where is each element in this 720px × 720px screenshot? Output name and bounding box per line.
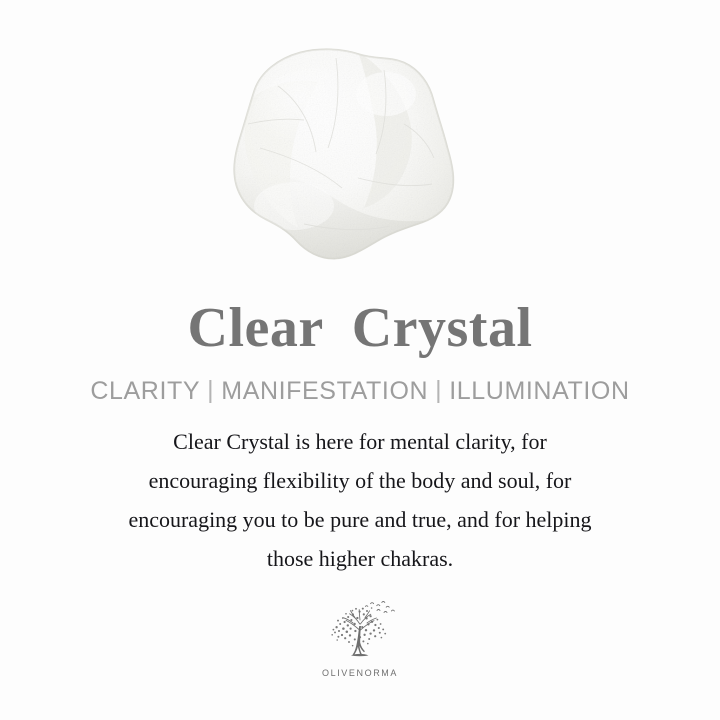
keyword-separator: | [200, 376, 221, 404]
product-info-card: Clear Crystal CLARITY | MANIFESTATION | … [0, 0, 720, 720]
product-description: Clear Crystal is here for mental clarity… [40, 422, 680, 578]
product-image-container [0, 0, 720, 288]
keyword-illumination: ILLUMINATION [449, 377, 629, 405]
description-line: Clear Crystal is here for mental clarity… [40, 422, 680, 461]
description-line: encouraging flexibility of the body and … [40, 461, 680, 500]
olive-tree-icon [322, 600, 398, 666]
keyword-clarity: CLARITY [90, 377, 200, 405]
page-title: Clear Crystal [188, 288, 533, 358]
brand-name: OLIVENORMA [322, 668, 398, 678]
clear-quartz-crystal-image [208, 28, 476, 278]
crystal-body [208, 28, 476, 278]
keyword-separator: | [428, 376, 449, 404]
description-line: those higher chakras. [40, 539, 680, 578]
description-line: encouraging you to be pure and true, and… [40, 500, 680, 539]
brand-logo: OLIVENORMA [322, 600, 398, 678]
keyword-manifestation: MANIFESTATION [221, 377, 428, 405]
keyword-strip: CLARITY | MANIFESTATION | ILLUMINATION [90, 377, 629, 405]
